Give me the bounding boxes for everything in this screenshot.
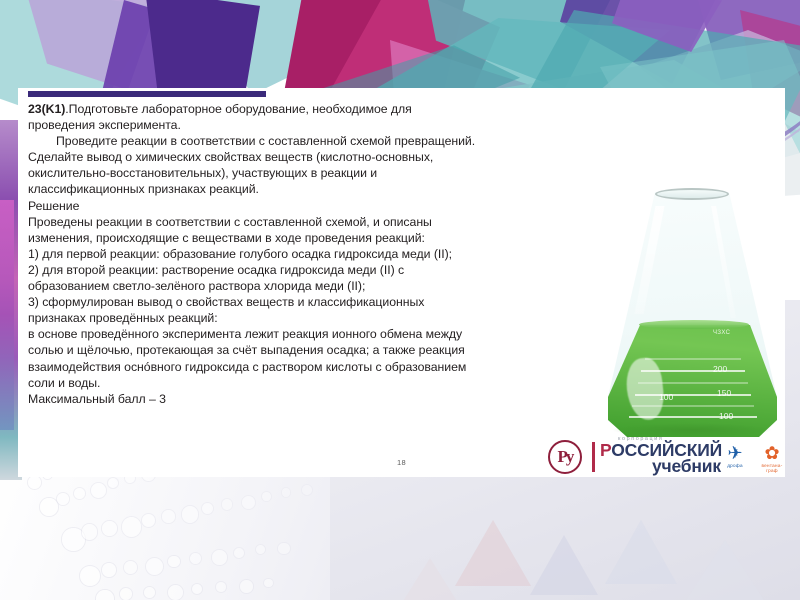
decor-triangle (530, 535, 598, 595)
task-text-line: солью и щёлочью, протекающая за счёт вып… (28, 342, 588, 358)
task-text-body: 23(K1).Подготовьте лабораторное оборудов… (28, 101, 588, 407)
decor-bubble (212, 550, 227, 565)
decor-bubble (102, 563, 116, 577)
decor-bubble (28, 476, 41, 489)
decor-left-stripe-accent (0, 200, 14, 430)
decor-bubble (96, 590, 114, 600)
publisher-logo-block: Ру корпорация РОССИЙСКИЙ учебник ✈ дрофа… (548, 432, 780, 477)
task-text-line: в основе проведённого эксперимента лежит… (28, 326, 588, 342)
logo-name-line-2: учебник (652, 456, 721, 477)
task-text-line: проведения эксперимента. (28, 117, 588, 133)
decor-bubble (102, 521, 117, 536)
decor-bubble (202, 503, 213, 514)
decor-bubble (222, 499, 232, 509)
task-text-line: взаимодействия оснóвного гидроксида с ра… (28, 359, 588, 375)
decor-bubble (122, 517, 141, 536)
task-text-line: Сделайте вывод о химических свойствах ве… (28, 149, 588, 165)
flask-graduation-label: 150 (717, 388, 731, 398)
task-text-line: образованием светло-зелёного раствора хл… (28, 278, 588, 294)
decor-bubble (142, 514, 155, 527)
decor-bubble (264, 579, 273, 588)
content-card: 23(K1).Подготовьте лабораторное оборудов… (18, 88, 785, 477)
decor-bubble (282, 488, 290, 496)
task-text-line: признаках проведённых реакций: (28, 310, 588, 326)
task-text-line: соли и воды. (28, 375, 588, 391)
decor-triangle (685, 540, 765, 600)
decor-bubble (57, 493, 69, 505)
task-text-line: 1) для первой реакции: образование голуб… (28, 246, 588, 262)
decor-bubble (262, 492, 271, 501)
task-text-line: окислительно-восстановительных), участву… (28, 165, 588, 181)
erlenmeyer-flask-illustration: 200 150 100 100 ЧЗХС (601, 180, 800, 442)
bird-icon: ✈ (718, 444, 752, 462)
task-text-line: Решение (28, 198, 588, 214)
flask-graduation-label-left: 100 (659, 392, 673, 402)
decor-triangle (400, 558, 460, 600)
decor-bubble (240, 580, 253, 593)
flask-graduation-label: 100 (719, 411, 733, 421)
flask-graduation-mark (641, 370, 745, 372)
task-text-line: Максимальный балл – 3 (28, 391, 588, 407)
decor-bubble (234, 548, 244, 558)
decor-bubble (120, 588, 132, 600)
flask-graduation-mark (645, 358, 741, 360)
title-accent-rule (28, 91, 266, 97)
decor-bubble (40, 498, 58, 516)
decor-triangle (605, 520, 677, 584)
decor-triangle (455, 520, 531, 586)
logo-divider (592, 442, 595, 472)
task-text-line: изменения, происходящие с веществами в х… (28, 230, 588, 246)
logo-name-accent-letter: Р (600, 440, 611, 460)
slide-canvas: 23(K1).Подготовьте лабораторное оборудов… (0, 0, 800, 600)
sub-logo-ventana-graf: ✿ вентана-граф (756, 444, 788, 473)
decor-bubble (168, 556, 180, 568)
decor-bubble (162, 510, 175, 523)
task-text-line: 23(K1).Подготовьте лабораторное оборудов… (28, 101, 588, 117)
flask-liquid-surface (639, 320, 749, 329)
flower-icon: ✿ (756, 444, 788, 462)
decor-bubble (80, 566, 100, 586)
task-text-line: Проведены реакции в соответствии с соста… (28, 214, 588, 230)
sub-logo-drofa: ✈ дрофа (718, 444, 752, 468)
logo-monogram: Ру (548, 440, 582, 474)
sub-logo-caption: дрофа (718, 463, 752, 468)
flask-etched-brand: ЧЗХС (713, 330, 730, 336)
flask-graduation-label: 200 (713, 364, 727, 374)
task-text-line: классификационных признаках реакций. (28, 181, 588, 197)
sub-logo-caption: вентана-граф (756, 463, 788, 473)
flask-graduation-mark (638, 382, 748, 384)
flask-graduation-mark (632, 405, 754, 407)
task-text-line: 2) для второй реакции: растворение осадк… (28, 262, 588, 278)
decor-bubble (182, 506, 198, 522)
task-text-line: Проведите реакции в соответствии с соста… (28, 133, 588, 149)
flask-neck-rim (655, 188, 729, 200)
flask-graduation-mark (629, 416, 757, 418)
flask-graduation-mark (635, 394, 751, 396)
decor-bubble (124, 561, 137, 574)
task-text-line: 3) сформулирован вывод о свойствах вещес… (28, 294, 588, 310)
decor-bubble (216, 582, 226, 592)
task-number-label: 23(K1) (28, 102, 65, 116)
